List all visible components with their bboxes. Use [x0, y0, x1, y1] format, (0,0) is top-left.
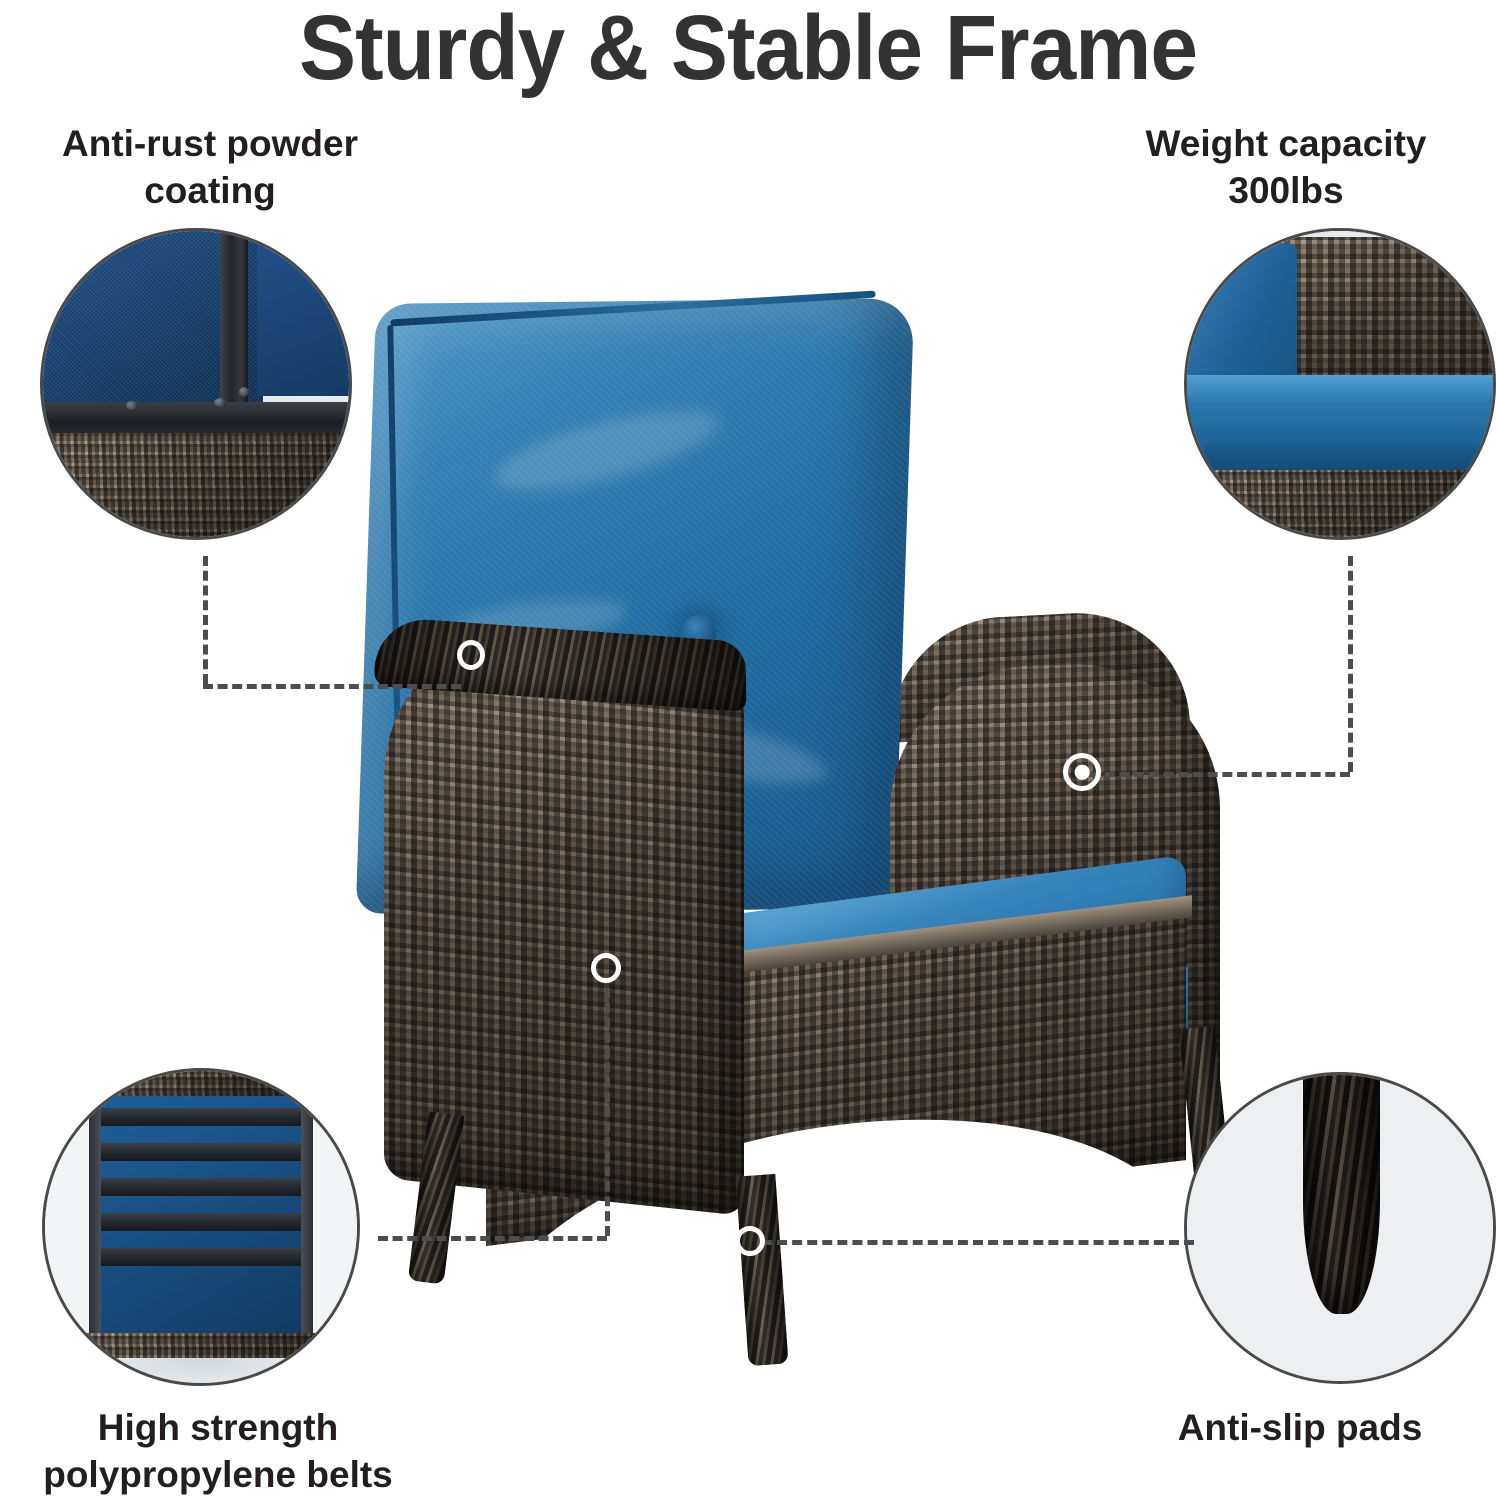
- marker-arm: [457, 640, 485, 670]
- inset-chair-leg: [1303, 1072, 1380, 1314]
- marker-seat: [1063, 753, 1101, 791]
- inset-polypropylene-belts: [42, 1068, 360, 1386]
- inset-screw-left: [126, 401, 138, 410]
- marker-frame-base: [591, 953, 621, 983]
- callout-label-weight-capacity: Weight capacity 300lbs: [1086, 120, 1486, 215]
- connector-anti-rust-horizontal: [203, 684, 461, 689]
- callout-label-anti-slip: Anti-slip pads: [1110, 1404, 1490, 1451]
- inset-wicker-front: [1184, 470, 1496, 540]
- page-title: Sturdy & Stable Frame: [52, 0, 1443, 101]
- inset-seat-deck: [95, 1096, 307, 1346]
- inset-anti-slip-pads: [1184, 1072, 1496, 1384]
- infographic-canvas: Sturdy & Stable Frame: [0, 0, 1496, 1500]
- connector-weight-vertical: [1348, 556, 1353, 772]
- connector-belts-vertical: [605, 988, 610, 1236]
- connector-belts-horizontal: [378, 1236, 607, 1241]
- inset-blue-fabric-right: [257, 228, 352, 396]
- inset-anti-rust: [40, 228, 352, 540]
- inset-seat-edge: [1184, 445, 1496, 473]
- inset-wicker-back: [1279, 237, 1496, 396]
- callout-label-belts: High strength polypropylene belts: [8, 1404, 428, 1499]
- product-image: [330, 285, 1240, 1250]
- connector-anti-slip-horizontal: [762, 1240, 1194, 1245]
- marker-leg-foot: [735, 1226, 765, 1256]
- callout-label-anti-rust: Anti-rust powder coating: [10, 120, 410, 215]
- inset-shadow: [45, 1358, 357, 1386]
- connector-anti-rust-vertical: [203, 556, 208, 684]
- inset-side-rail-left: [89, 1090, 101, 1352]
- inset-screw-right: [214, 398, 226, 407]
- connector-weight-horizontal: [1090, 772, 1350, 777]
- inset-wicker: [40, 433, 352, 540]
- inset-side-rail-right: [301, 1090, 313, 1352]
- inset-screw-post: [239, 387, 249, 397]
- inset-weight-capacity: [1184, 228, 1496, 540]
